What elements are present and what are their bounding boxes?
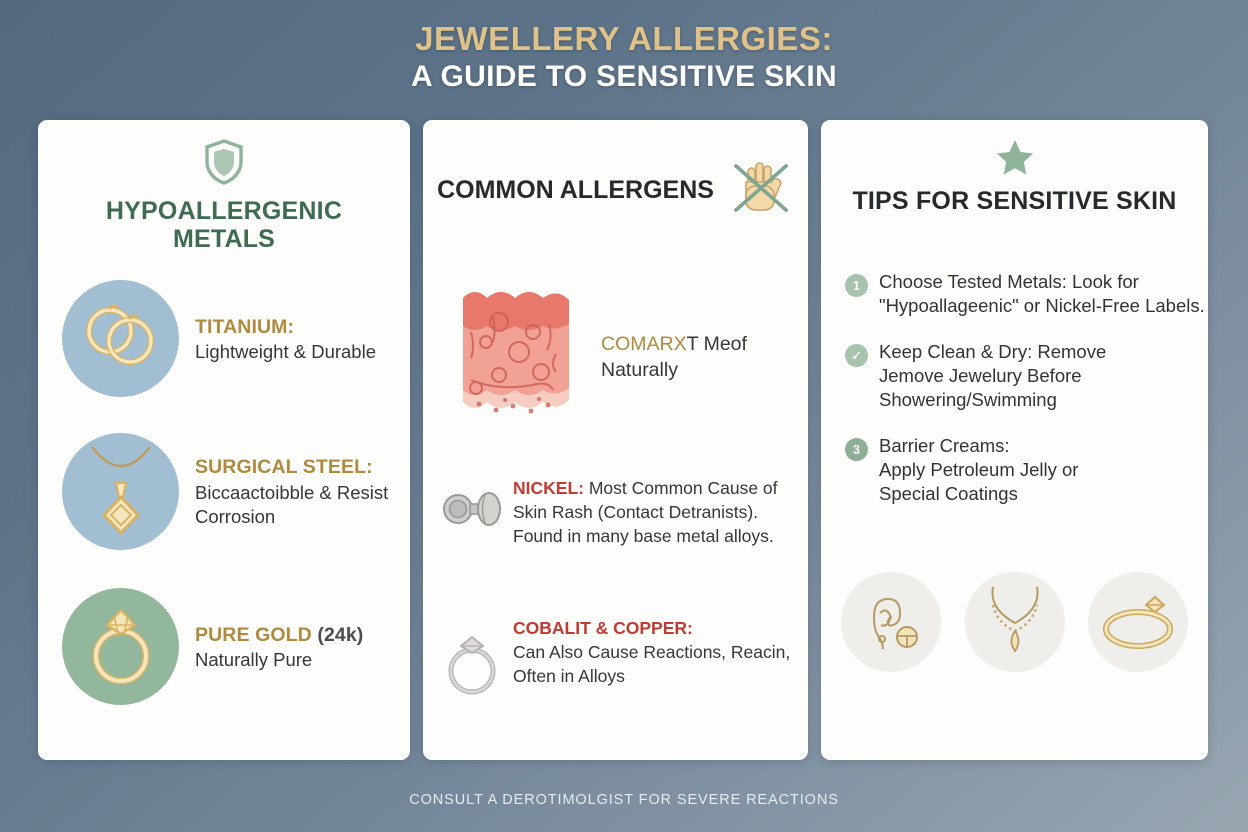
metal-name-main: PURE GOLD <box>195 624 312 646</box>
card-hypoallergenic-metals: HYPOALLERGENIC METALS TITANIUM: <box>38 120 410 760</box>
rash-title-gold: COMARX <box>601 333 687 355</box>
metal-item-pure-gold: PURE GOLD (24k) Naturally Pure <box>62 588 392 705</box>
card-tips-sensitive-skin: TIPS FOR SENSITIVE SKIN 1 Choose Tested … <box>821 120 1208 760</box>
allergen-lead: COBALIT & COPPER: <box>513 617 801 641</box>
tip-badge-3: 3 <box>845 438 868 461</box>
shield-icon <box>38 138 410 191</box>
allergen-text: COBALIT & COPPER:Can Also Cause Reaction… <box>513 615 801 688</box>
allergen-body: Can Also Cause Reactions, Reacin, Often … <box>513 642 790 686</box>
metal-name-karat: (24k) <box>317 624 363 646</box>
rash-title-dark: T Meof <box>687 333 747 355</box>
card-common-allergens: COMMON ALLERGENS <box>423 120 808 760</box>
tip-line-2: "Hypoallageenic" or Nickel-Free Labels. <box>879 294 1205 318</box>
metal-desc: Biccaactoibble & Resist Corrosion <box>195 481 392 530</box>
ear-with-earring-icon <box>841 572 941 672</box>
star-icon <box>821 138 1208 181</box>
jewelry-icon-strip <box>841 572 1188 672</box>
tip-item: 1 Choose Tested Metals: Look for "Hypoal… <box>845 270 1208 318</box>
metal-desc: Naturally Pure <box>195 648 363 672</box>
metal-text: SURGICAL STEEL: Biccaactoibble & Resist … <box>195 453 392 529</box>
metal-icon-circle <box>62 433 179 550</box>
title-line-1: JEWELLERY ALLERGIES: <box>0 20 1248 59</box>
allergens-title: COMMON ALLERGENS <box>437 176 714 205</box>
hoop-earrings-icon <box>82 299 160 378</box>
necklace-pendant-icon <box>78 441 164 542</box>
plain-ring-icon <box>441 615 503 702</box>
metal-text: PURE GOLD (24k) Naturally Pure <box>195 621 363 673</box>
infographic-title: JEWELLERY ALLERGIES: A GUIDE TO SENSITIV… <box>0 0 1248 96</box>
metal-icon-circle <box>62 588 179 705</box>
tip-line-2: Jemove Jewelury Before <box>879 364 1106 388</box>
allergen-item-cobalt-copper: COBALIT & COPPER:Can Also Cause Reaction… <box>441 615 801 702</box>
tip-line-1: Choose Tested Metals: Look for <box>879 270 1205 294</box>
tip-item: 3 Barrier Creams: Apply Petroleum Jelly … <box>845 434 1208 506</box>
metal-desc: Lightweight & Durable <box>195 340 376 364</box>
allergen-item-nickel: NICKEL: Most Common Cause of Skin Rash (… <box>441 475 801 548</box>
tip-badge-check-icon: ✓ <box>845 344 868 367</box>
card-row: HYPOALLERGENIC METALS TITANIUM: <box>0 120 1248 760</box>
rash-title: COMARXT Meof <box>601 332 747 357</box>
allergen-text: NICKEL: Most Common Cause of Skin Rash (… <box>513 475 801 548</box>
skin-rash-icon <box>441 280 591 431</box>
rash-label: COMARXT Meof Naturally <box>601 328 747 383</box>
no-hand-icon <box>728 156 794 225</box>
title-line-2: A GUIDE TO SENSITIVE SKIN <box>0 59 1248 96</box>
metals-header: HYPOALLERGENIC METALS <box>38 120 410 254</box>
rash-block: COMARXT Meof Naturally <box>441 280 791 431</box>
earring-back-icon <box>441 475 503 536</box>
metal-item-surgical-steel: SURGICAL STEEL: Biccaactoibble & Resist … <box>62 433 392 550</box>
rash-subtitle: Naturally <box>601 358 747 383</box>
gold-ring-icon <box>1088 572 1188 672</box>
metal-name: TITANIUM: <box>195 315 376 340</box>
tip-line-3: Special Coatings <box>879 482 1078 506</box>
tips-list: 1 Choose Tested Metals: Look for "Hypoal… <box>845 270 1208 528</box>
tip-line-1: Barrier Creams: <box>879 434 1078 458</box>
tip-text: Keep Clean & Dry: Remove Jemove Jewelury… <box>879 340 1106 412</box>
tip-item: ✓ Keep Clean & Dry: Remove Jemove Jewelu… <box>845 340 1208 412</box>
tip-badge-1: 1 <box>845 274 868 297</box>
allergens-header: COMMON ALLERGENS <box>423 120 808 225</box>
metal-icon-circle <box>62 280 179 397</box>
metal-text: TITANIUM: Lightweight & Durable <box>195 313 376 365</box>
metal-name: SURGICAL STEEL: <box>195 455 392 480</box>
tips-title: TIPS FOR SENSITIVE SKIN <box>821 187 1208 215</box>
tip-line-2: Apply Petroleum Jelly or <box>879 458 1078 482</box>
diamond-ring-icon <box>82 600 160 693</box>
footer-note: CONSULT A DEROTIMOLGIST FOR SEVERE REACT… <box>0 792 1248 808</box>
allergen-lead: NICKEL: <box>513 478 584 498</box>
tip-text: Barrier Creams: Apply Petroleum Jelly or… <box>879 434 1078 506</box>
tip-text: Choose Tested Metals: Look for "Hypoalla… <box>879 270 1205 318</box>
metal-name: PURE GOLD (24k) <box>195 623 363 648</box>
necklace-icon <box>965 572 1065 672</box>
tip-line-3: Showering/Swimming <box>879 388 1106 412</box>
metal-item-titanium: TITANIUM: Lightweight & Durable <box>62 280 392 397</box>
tips-header: TIPS FOR SENSITIVE SKIN <box>821 120 1208 215</box>
metals-title: HYPOALLERGENIC METALS <box>38 197 410 254</box>
tip-line-1: Keep Clean & Dry: Remove <box>879 340 1106 364</box>
